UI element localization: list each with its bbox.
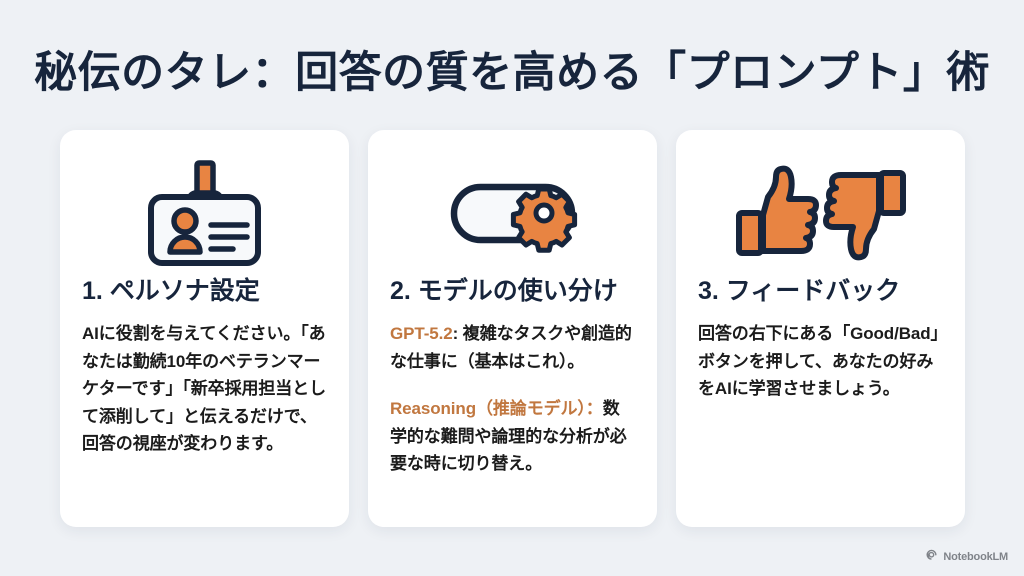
toggle-gear-icon [390, 154, 635, 272]
id-badge-icon [82, 154, 327, 272]
card-paragraph: 回答の右下にある「Good/Bad」ボタンを押して、あなたの好みをAIに学習させ… [698, 320, 943, 403]
notebooklm-label: NotebookLM [943, 551, 1008, 563]
card-heading: 2. モデルの使い分け [390, 276, 618, 306]
thumbs-up-down-icon [698, 154, 943, 272]
notebooklm-logo-icon [925, 548, 938, 566]
thumbs-up-glyph [739, 169, 816, 253]
card-body: GPT-5.2: 複雑なタスクや創造的な仕事に（基本はこれ）。Reasoning… [390, 320, 635, 478]
card-heading: 3. フィードバック [698, 276, 900, 306]
card-body: 回答の右下にある「Good/Bad」ボタンを押して、あなたの好みをAIに学習させ… [698, 320, 943, 403]
card-heading: 1. ペルソナ設定 [82, 276, 260, 306]
card-model-selection: 2. モデルの使い分け GPT-5.2: 複雑なタスクや創造的な仕事に（基本はこ… [368, 130, 657, 527]
accent-term: Reasoning（推論モデル）： [390, 399, 603, 418]
card-body: AIに役割を与えてください。「あなたは勤続10年のベテランマーケターです」「新卒… [82, 320, 327, 458]
body-text: 回答の右下にある「Good/Bad」ボタンを押して、あなたの好みをAIに学習させ… [698, 324, 939, 398]
thumbs-down-glyph [826, 173, 903, 257]
accent-term: GPT-5.2 [390, 324, 453, 343]
card-row: 1. ペルソナ設定 AIに役割を与えてください。「あなたは勤続10年のベテランマ… [60, 130, 965, 527]
card-paragraph: GPT-5.2: 複雑なタスクや創造的な仕事に（基本はこれ）。 [390, 320, 635, 375]
page-title: 秘伝のタレ：回答の質を高める「プロンプト」術 [0, 38, 1024, 100]
card-paragraph: Reasoning（推論モデル）：数学的な難問や論理的な分析が必要な時に切り替え… [390, 395, 635, 478]
card-feedback: 3. フィードバック 回答の右下にある「Good/Bad」ボタンを押して、あなた… [676, 130, 965, 527]
body-text: AIに役割を与えてください。「あなたは勤続10年のベテランマーケターです」「新卒… [82, 324, 326, 453]
card-persona: 1. ペルソナ設定 AIに役割を与えてください。「あなたは勤続10年のベテランマ… [60, 130, 349, 527]
card-paragraph: AIに役割を与えてください。「あなたは勤続10年のベテランマーケターです」「新卒… [82, 320, 327, 458]
notebooklm-watermark: NotebookLM [925, 548, 1008, 566]
